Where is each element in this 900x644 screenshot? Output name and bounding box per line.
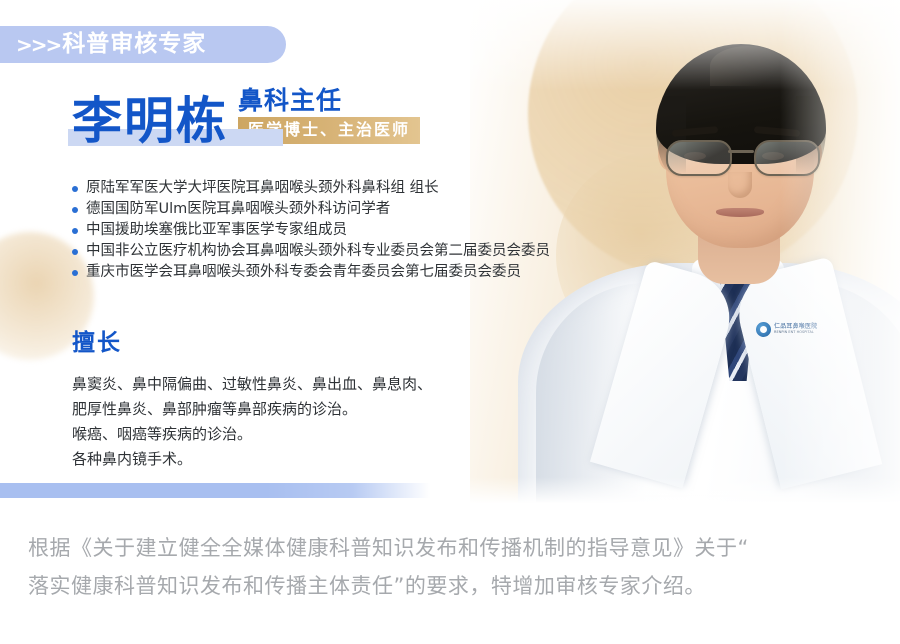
doctor-name: 李明栋 [72,96,228,146]
expert-profile-card: 仁品耳鼻喉医院 RENPIN ENT HOSPITAL >>> 科普审核专家 李… [0,0,900,644]
list-item: 重庆市医学会耳鼻咽喉头颈外科专委会青年委员会第七届委员会委员 [72,262,632,283]
specialty-line: 喉癌、咽癌等疾病的诊治。 [72,422,572,447]
list-item: 中国非公立医疗机构协会耳鼻咽喉头颈外科专业委员会第二届委员会委员 [72,241,632,262]
hospital-logo: 仁品耳鼻喉医院 RENPIN ENT HOSPITAL [756,322,817,337]
mouth [716,208,764,217]
footer-disclaimer: 根据《关于建立健全全媒体健康科普知识发布和传播机制的指导意见》关于“ 落实健康科… [0,503,900,644]
eyeglass-bridge [728,150,754,153]
eyeglass-lens-left [666,140,732,176]
hospital-logo-text: 仁品耳鼻喉医院 RENPIN ENT HOSPITAL [774,324,817,334]
section-badge-label: 科普审核专家 [62,33,206,56]
chevron-right-icon: >>> [16,35,60,55]
specialty-line: 肥厚性鼻炎、鼻部肿瘤等鼻部疾病的诊治。 [72,397,572,422]
eyeglass-lens-right [754,140,820,176]
profile-card-area: 仁品耳鼻喉医院 RENPIN ENT HOSPITAL >>> 科普审核专家 李… [0,0,900,503]
nose [728,172,752,198]
credentials-list: 原陆军军医大学大坪医院耳鼻咽喉头颈外科鼻科组 组长 德国国防军Ulm医院耳鼻咽喉… [72,178,632,283]
footer-line: 落实健康科普知识发布和传播主体责任”的要求，特增加审核专家介绍。 [28,567,872,605]
section-badge: >>> 科普审核专家 [0,26,286,63]
specialty-line: 鼻窦炎、鼻中隔偏曲、过敏性鼻炎、鼻出血、鼻息肉、 [72,372,572,397]
specialty-heading: 擅长 [72,332,122,355]
doctor-name-row: 李明栋 鼻科主任 医学博士、主治医师 [72,88,420,148]
footer-line: 根据《关于建立健全全媒体健康科普知识发布和传播机制的指导意见》关于“ [28,529,872,567]
doctor-name-wrap: 李明栋 [72,96,228,148]
hospital-logo-mark-icon [756,322,771,337]
list-item: 原陆军军医大学大坪医院耳鼻咽喉头颈外科鼻科组 组长 [72,178,632,199]
doctor-department-title: 鼻科主任 [238,88,420,114]
list-item: 德国国防军Ulm医院耳鼻咽喉头颈外科访问学者 [72,199,632,220]
eyeglasses-icon [664,140,818,174]
hair-part [710,46,786,86]
list-item: 中国援助埃塞俄比亚军事医学专家组成员 [72,220,632,241]
specialty-body: 鼻窦炎、鼻中隔偏曲、过敏性鼻炎、鼻出血、鼻息肉、 肥厚性鼻炎、鼻部肿瘤等鼻部疾病… [72,372,572,472]
hospital-logo-name-en: RENPIN ENT HOSPITAL [774,331,817,334]
accent-band-bottom [0,483,430,498]
specialty-line: 各种鼻内镜手术。 [72,447,572,472]
